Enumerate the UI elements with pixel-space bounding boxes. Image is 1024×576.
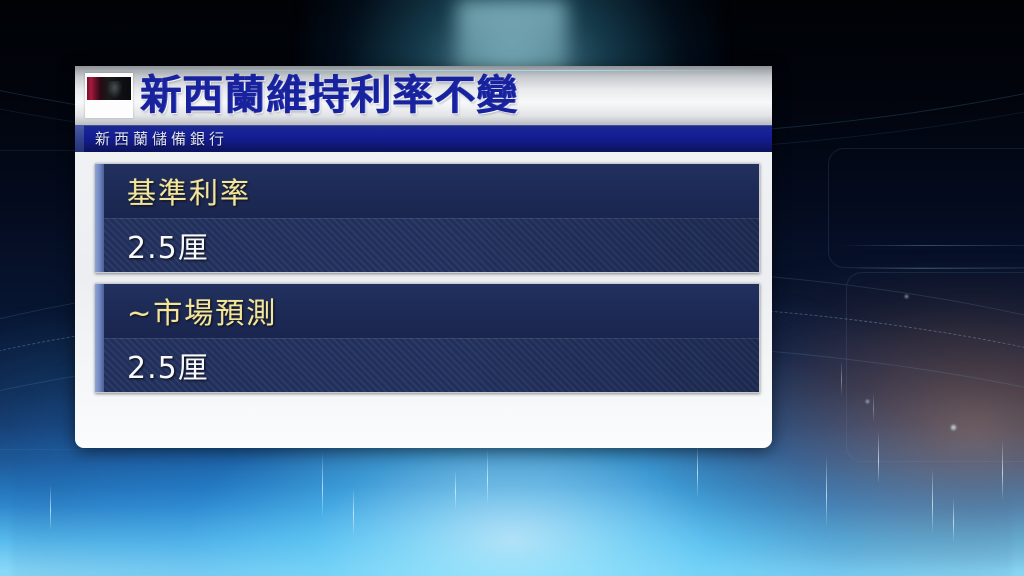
background-ghost-line-1 [840, 245, 1024, 246]
light-streak [697, 442, 698, 498]
source-label: 新西蘭儲備銀行 [95, 128, 228, 149]
card-subheader: 新西蘭儲備銀行 [75, 125, 772, 152]
light-streak [1002, 440, 1003, 500]
light-streak [953, 498, 954, 542]
subheader-accent-bar [75, 125, 84, 152]
background-ghost-panel-1 [828, 148, 1024, 268]
light-streak [873, 392, 874, 422]
row-value: 2.5厘 [95, 218, 759, 272]
row-value: 2.5厘 [95, 338, 759, 392]
card-body: 基準利率 2.5厘 ~市場預測 2.5厘 [75, 152, 772, 393]
row-label: 基準利率 [95, 164, 759, 218]
light-streak [50, 485, 51, 531]
news-graphic-card: 新西蘭維持利率不變 新西蘭儲備銀行 基準利率 2.5厘 ~市場預測 2.5厘 [75, 66, 772, 448]
data-block: 基準利率 2.5厘 [95, 163, 760, 273]
light-streak [455, 470, 456, 510]
nz-flag-thumbnail-image [87, 77, 131, 100]
light-spark [905, 295, 908, 298]
light-spark [866, 400, 869, 403]
nz-flag-thumbnail-icon [85, 73, 133, 118]
broadcast-stage: 新西蘭維持利率不變 新西蘭儲備銀行 基準利率 2.5厘 ~市場預測 2.5厘 [0, 0, 1024, 576]
card-header: 新西蘭維持利率不變 [75, 66, 772, 125]
light-streak [322, 452, 323, 518]
light-streak [932, 468, 933, 534]
light-streak [487, 448, 488, 506]
light-streak [826, 455, 827, 527]
data-block: ~市場預測 2.5厘 [95, 283, 760, 393]
page-title: 新西蘭維持利率不變 [140, 75, 518, 116]
light-spark [951, 425, 956, 430]
light-streak [841, 360, 842, 396]
row-label: ~市場預測 [95, 284, 759, 338]
light-streak [878, 432, 879, 484]
light-streak [353, 488, 354, 536]
